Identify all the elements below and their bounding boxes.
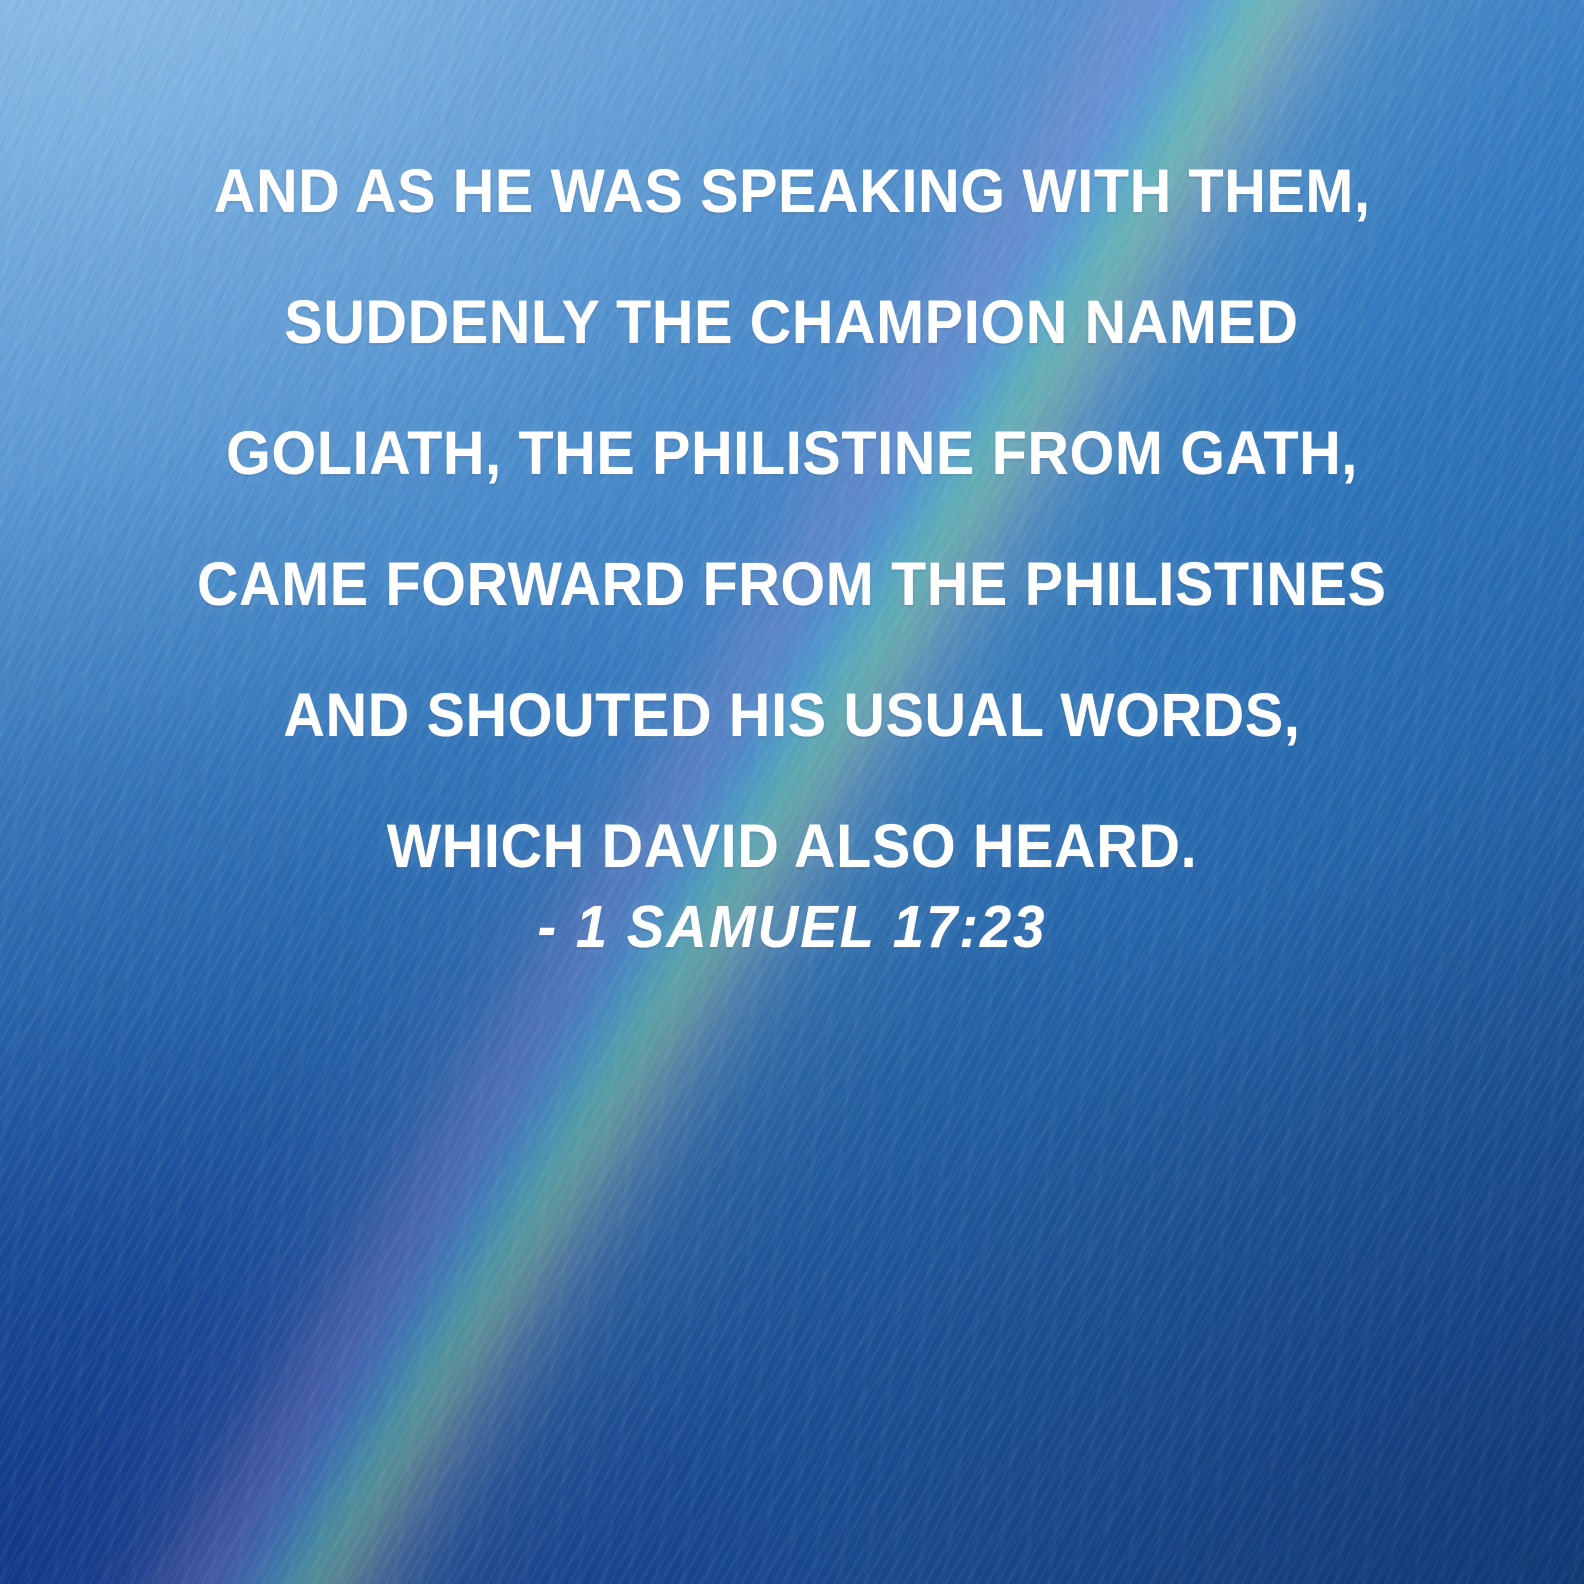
verse-image: AND AS HE WAS SPEAKING WITH THEM, SUDDEN… <box>0 0 1584 1584</box>
verse-text-block: AND AS HE WAS SPEAKING WITH THEM, SUDDEN… <box>0 126 1584 912</box>
verse-attribution: - 1 SAMUEL 17:23 <box>40 893 1545 961</box>
verse-line: CAME FORWARD FROM THE PHILISTINES <box>197 519 1387 650</box>
verse-line: AND AS HE WAS SPEAKING WITH THEM, <box>214 126 1371 257</box>
verse-line: AND SHOUTED HIS USUAL WORDS, <box>283 650 1300 781</box>
verse-line: SUDDENLY THE CHAMPION NAMED <box>285 257 1299 388</box>
verse-line: GOLIATH, THE PHILISTINE FROM GATH, <box>226 388 1358 519</box>
